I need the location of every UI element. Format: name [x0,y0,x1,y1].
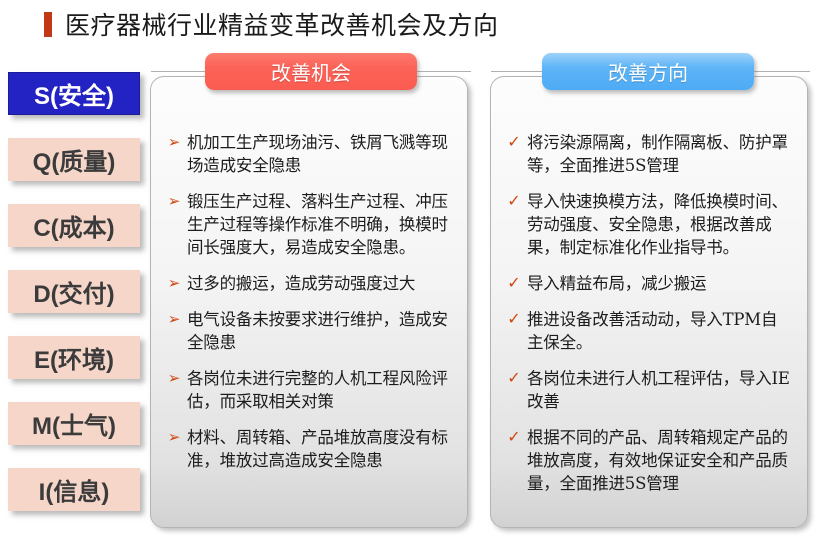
direction-item: ✓各岗位未进行人机工程评估，导入IE改善 [501,367,793,413]
sidebar-item-label: D(交付) [33,274,114,309]
direction-item: ✓推进设备改善活动动，导入TPM自主保全。 [501,308,793,354]
title-accent-bar [44,12,52,37]
bullet-text: 电气设备未按要求进行维护，造成安全隐患 [187,308,453,354]
opportunity-item: ➢材料、周转箱、产品堆放高度没有标准，堆放过高造成安全隐患 [161,426,453,472]
bullet-text: 锻压生产过程、落料生产过程、冲压生产过程等操作标准不明确，换模时间长强度大，易造… [187,190,453,259]
banner-connector-line [752,71,810,72]
arrow-bullet-icon: ➢ [161,308,187,331]
sidebar-item-7[interactable]: I(信息) [8,468,140,511]
sidebar-item-6[interactable]: M(士气) [8,402,140,445]
bullet-text: 导入精益布局，减少搬运 [527,272,706,295]
sidebar-item-5[interactable]: E(环境) [8,336,140,379]
banner-improvement-directions: 改善方向 [542,53,754,90]
bullet-text: 机加工生产现场油污、铁屑飞溅等现场造成安全隐患 [187,131,453,177]
sidebar-item-label: I(信息) [39,472,110,507]
bullet-text: 根据不同的产品、周转箱规定产品的堆放高度，有效地保证安全和产品质量，全面推进5S… [527,426,793,495]
direction-item: ✓将污染源隔离，制作隔离板、防护罩等，全面推进5S管理 [501,131,793,177]
sidebar-item-1[interactable]: S(安全) [8,72,140,115]
sidebar-item-label: S(安全) [34,76,114,111]
check-icon: ✓ [501,426,527,449]
page-header: 医疗器械行业精益变革改善机会及方向 [0,4,820,44]
sidebar-item-label: Q(质量) [33,142,116,177]
opportunity-item: ➢机加工生产现场油污、铁屑飞溅等现场造成安全隐患 [161,131,453,177]
sqcdemi-sidebar: S(安全)Q(质量)C(成本)D(交付)E(环境)M(士气)I(信息) [8,72,140,532]
sidebar-item-4[interactable]: D(交付) [8,270,140,313]
arrow-bullet-icon: ➢ [161,272,187,295]
page-title: 医疗器械行业精益变革改善机会及方向 [65,6,499,42]
arrow-bullet-icon: ➢ [161,190,187,213]
improvement-opportunities-panel: ➢机加工生产现场油污、铁屑飞溅等现场造成安全隐患➢锻压生产过程、落料生产过程、冲… [150,76,468,528]
bullet-text: 过多的搬运，造成劳动强度过大 [187,272,415,295]
sidebar-item-label: M(士气) [32,406,116,441]
banner-connector-line [491,71,543,72]
sidebar-item-3[interactable]: C(成本) [8,204,140,247]
check-icon: ✓ [501,272,527,295]
bullet-text: 导入快速换模方法，降低换模时间、劳动强度、安全隐患，根据改善成果，制定标准化作业… [527,190,793,259]
check-icon: ✓ [501,367,527,390]
check-icon: ✓ [501,131,527,154]
banner-label: 改善机会 [271,57,351,86]
direction-item: ✓导入快速换模方法，降低换模时间、劳动强度、安全隐患，根据改善成果，制定标准化作… [501,190,793,259]
direction-item: ✓导入精益布局，减少搬运 [501,272,793,295]
bullet-text: 推进设备改善活动动，导入TPM自主保全。 [527,308,793,354]
sidebar-item-label: C(成本) [33,208,114,243]
arrow-bullet-icon: ➢ [161,367,187,390]
direction-item: ✓根据不同的产品、周转箱规定产品的堆放高度，有效地保证安全和产品质量，全面推进5… [501,426,793,495]
banner-label: 改善方向 [608,57,688,86]
improvement-directions-panel: ✓将污染源隔离，制作隔离板、防护罩等，全面推进5S管理✓导入快速换模方法，降低换… [490,76,808,528]
direction-list: ✓将污染源隔离，制作隔离板、防护罩等，全面推进5S管理✓导入快速换模方法，降低换… [491,131,807,508]
sidebar-item-label: E(环境) [34,340,114,375]
opportunity-item: ➢各岗位未进行完整的人机工程风险评估，而采取相关对策 [161,367,453,413]
opportunity-item: ➢过多的搬运，造成劳动强度过大 [161,272,453,295]
sidebar-item-2[interactable]: Q(质量) [8,138,140,181]
bullet-text: 材料、周转箱、产品堆放高度没有标准，堆放过高造成安全隐患 [187,426,453,472]
bullet-text: 将污染源隔离，制作隔离板、防护罩等，全面推进5S管理 [527,131,793,177]
arrow-bullet-icon: ➢ [161,426,187,449]
opportunity-list: ➢机加工生产现场油污、铁屑飞溅等现场造成安全隐患➢锻压生产过程、落料生产过程、冲… [151,131,467,485]
arrow-bullet-icon: ➢ [161,131,187,154]
bullet-text: 各岗位未进行人机工程评估，导入IE改善 [527,367,793,413]
banner-connector-line [151,71,207,72]
opportunity-item: ➢锻压生产过程、落料生产过程、冲压生产过程等操作标准不明确，换模时间长强度大，易… [161,190,453,259]
opportunity-item: ➢电气设备未按要求进行维护，造成安全隐患 [161,308,453,354]
bullet-text: 各岗位未进行完整的人机工程风险评估，而采取相关对策 [187,367,453,413]
check-icon: ✓ [501,308,527,331]
check-icon: ✓ [501,190,527,213]
banner-connector-line [415,71,471,72]
banner-improvement-opportunities: 改善机会 [205,53,417,90]
